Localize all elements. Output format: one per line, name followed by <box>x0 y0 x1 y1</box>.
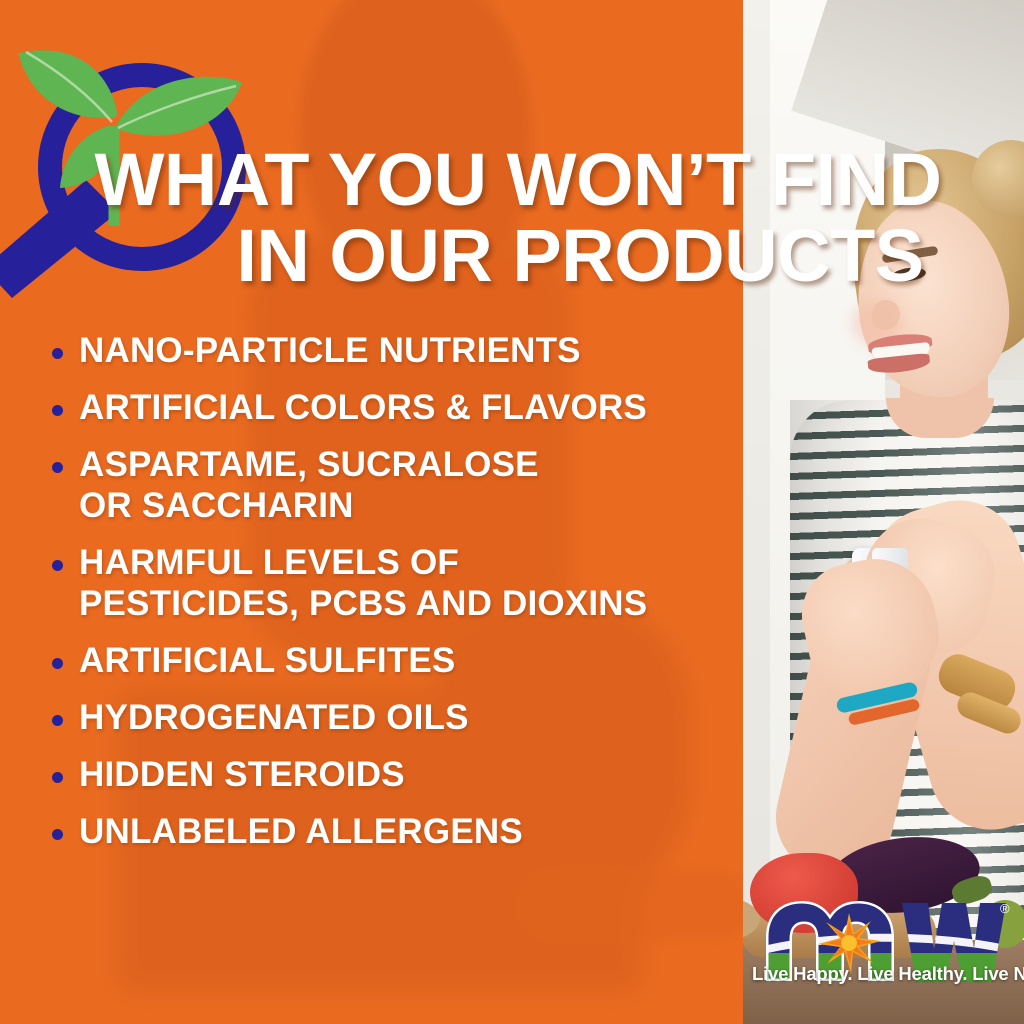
bullet-dot <box>52 462 63 473</box>
list-item: HIDDEN STEROIDS <box>52 754 742 795</box>
list-item-label: ARTIFICIAL SULFITES <box>79 640 455 681</box>
list-item: NANO-PARTICLE NUTRIENTS <box>52 330 742 371</box>
list-item-label: HIDDEN STEROIDS <box>79 754 405 795</box>
list-item: ASPARTAME, SUCRALOSE OR SACCHARIN <box>52 444 742 526</box>
promo-poster: WHAT YOU WON’T FIND IN OUR PRODUCTS NANO… <box>0 0 1024 1024</box>
list-item: HYDROGENATED OILS <box>52 697 742 738</box>
list-item-label: HARMFUL LEVELS OF PESTICIDES, PCBS AND D… <box>79 542 647 624</box>
title-emphasis-wont: WON’T <box>507 138 751 221</box>
title-line-1-post: FIND <box>751 138 942 221</box>
bullet-dot <box>52 658 63 669</box>
title-line-1-pre: WHAT YOU <box>95 138 507 221</box>
bullet-dot <box>52 829 63 840</box>
exclusion-list: NANO-PARTICLE NUTRIENTS ARTIFICIAL COLOR… <box>52 330 742 868</box>
list-item: ARTIFICIAL SULFITES <box>52 640 742 681</box>
bullet-dot <box>52 772 63 783</box>
list-item-label: UNLABELED ALLERGENS <box>79 811 523 852</box>
bullet-dot <box>52 715 63 726</box>
list-item: UNLABELED ALLERGENS <box>52 811 742 852</box>
list-item-label: ARTIFICIAL COLORS & FLAVORS <box>79 387 647 428</box>
bullet-dot <box>52 348 63 359</box>
bullet-dot <box>52 560 63 571</box>
title-line-1: WHAT YOU WON’T FIND <box>0 142 1010 218</box>
registered-mark: ® <box>1000 901 1010 916</box>
list-item-label: NANO-PARTICLE NUTRIENTS <box>79 330 581 371</box>
title-line-2: IN OUR PRODUCTS <box>0 218 1010 294</box>
list-item: ARTIFICIAL COLORS & FLAVORS <box>52 387 742 428</box>
page-title: WHAT YOU WON’T FIND IN OUR PRODUCTS <box>0 142 1010 294</box>
bullet-dot <box>52 405 63 416</box>
logo-tagline: Live Happy. Live Healthy. Live NOW. <box>752 963 1014 985</box>
list-item-label: HYDROGENATED OILS <box>79 697 469 738</box>
list-item-label: ASPARTAME, SUCRALOSE OR SACCHARIN <box>79 444 539 526</box>
list-item: HARMFUL LEVELS OF PESTICIDES, PCBS AND D… <box>52 542 742 624</box>
